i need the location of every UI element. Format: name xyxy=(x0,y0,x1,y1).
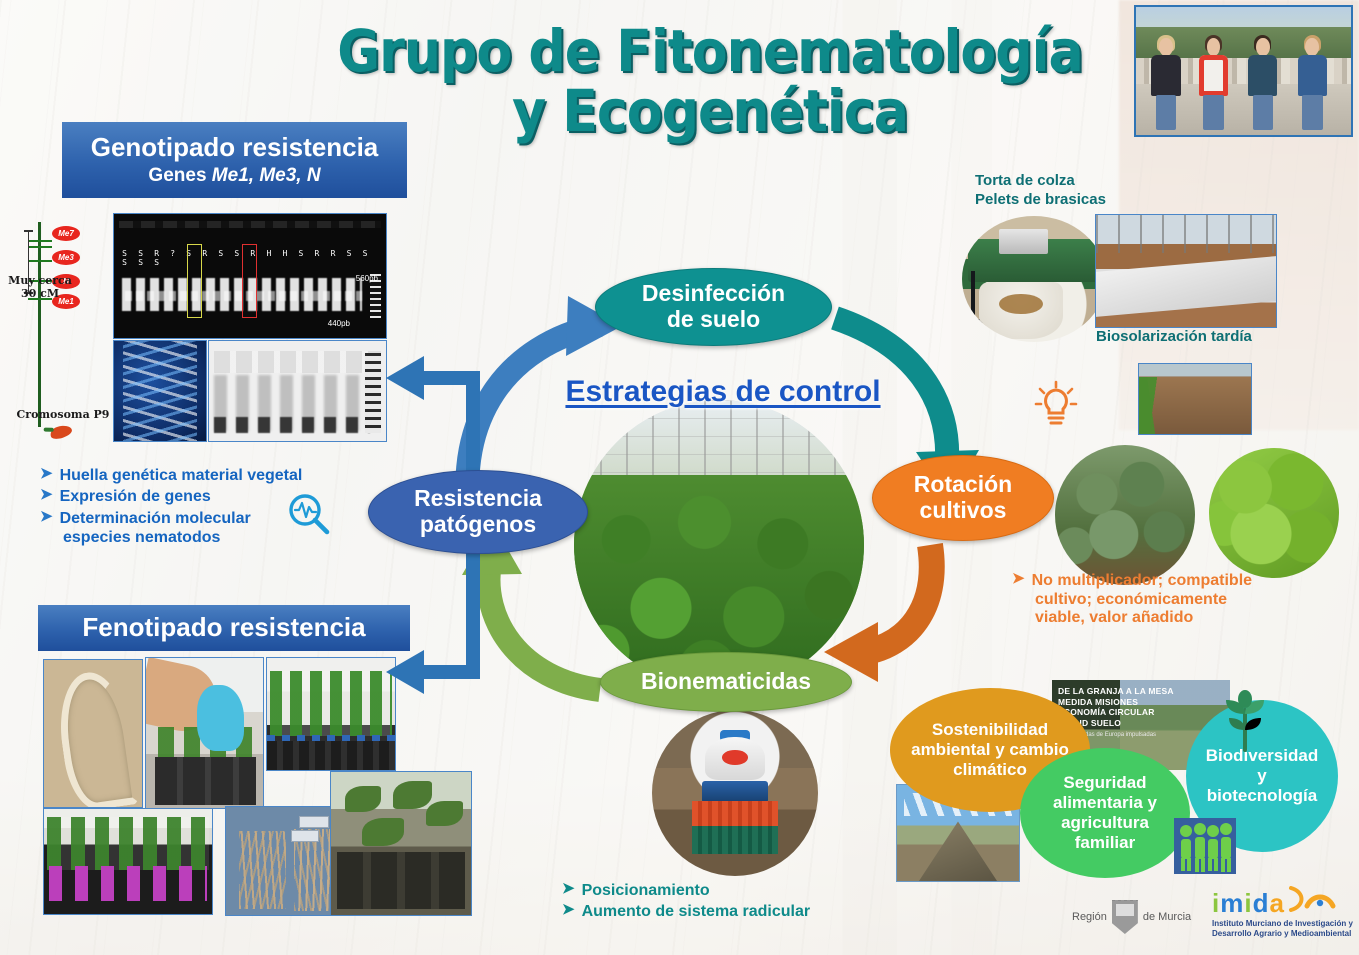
gel-electrophoresis-image: S S R ? S R S S R H H S R R S S S S S 56… xyxy=(113,213,387,339)
murcia-suffix: de Murcia xyxy=(1143,911,1191,923)
bullet-item: ➤ Determinación molecular xyxy=(40,508,385,529)
bullet-arrow-icon: ➤ xyxy=(40,508,53,526)
bullet-item: ➤ Huella genética material vegetal xyxy=(40,465,385,486)
bullet-item: ➤ Expresión de genes xyxy=(40,486,385,507)
genetic-distance-label: Muy cerca 30 cM xyxy=(0,274,80,300)
potted-plants-photo xyxy=(330,771,472,916)
bullet-continuation: cultivo; económicamente xyxy=(1012,591,1342,609)
title-line-2: y Ecogenética xyxy=(300,82,1120,142)
bullet-arrow-icon: ➤ xyxy=(40,465,53,483)
gene-marker-me7: Me7 xyxy=(52,226,80,241)
chromosome-map: Me7 Me3 N Me1 Muy cerca 30 cM Cromosoma … xyxy=(10,212,130,442)
imida-logo: imida Instituto Murciano de Investigació… xyxy=(1212,886,1357,948)
pale-gel-image xyxy=(208,340,387,442)
team-photo xyxy=(1134,5,1353,137)
imida-subtitle: Instituto Murciano de Investigación y De… xyxy=(1212,919,1357,939)
team-member xyxy=(1291,38,1334,130)
region-de-murcia-logo: Región de Murcia xyxy=(1072,893,1200,941)
crop-rows-photo xyxy=(1138,363,1252,435)
bullet-item: ➤ Posicionamiento xyxy=(562,880,962,901)
gel-highlight-red xyxy=(242,244,257,318)
disinfection-label: Torta de colza Pelets de brasicas xyxy=(975,172,1106,210)
cycle-node-crop-rotation[interactable]: Rotación cultivos xyxy=(872,455,1054,541)
cycle-node-soil-disinfection[interactable]: Desinfección de suelo xyxy=(595,268,832,346)
gene-marker-me3: Me3 xyxy=(52,250,80,265)
cycle-node-pathogen-resistance[interactable]: Resistencia patógenos xyxy=(368,470,588,554)
rotation-bullets: ➤ No multiplicador; compatible cultivo; … xyxy=(1012,570,1342,627)
genotyping-title: Genotipado resistencia xyxy=(91,133,379,163)
cycle-center-title: Estrategias de control xyxy=(538,375,908,409)
biosolarization-caption: Biosolarización tardía xyxy=(1096,328,1252,347)
team-member xyxy=(1241,38,1284,130)
genotyping-banner: Genotipado resistencia Genes Me1, Me3, N xyxy=(62,122,407,198)
bullet-continuation: especies nematodos xyxy=(40,529,385,547)
pepper-icon xyxy=(49,423,74,441)
gene-names: Me1, Me3, N xyxy=(212,165,321,186)
poster-canvas: Grupo de Fitonematología y Ecogenética G… xyxy=(0,0,1359,955)
magnifier-pulse-icon xyxy=(287,492,331,536)
genotyping-subtitle: Genes Me1, Me3, N xyxy=(148,165,320,187)
murcia-prefix: Región xyxy=(1072,911,1107,923)
bionematicide-bullets: ➤ Posicionamiento ➤ Aumento de sistema r… xyxy=(562,880,962,923)
rapeseed-cake-tank-photo xyxy=(962,216,1106,342)
phenotyping-title: Fenotipado resistencia xyxy=(82,613,365,643)
seedling-tray-photo xyxy=(266,657,396,771)
bullet-arrow-icon: ➤ xyxy=(562,880,575,898)
family-group-icon xyxy=(1174,818,1236,874)
inoculation-photo xyxy=(145,657,264,809)
phenotyping-banner: Fenotipado resistencia xyxy=(38,605,410,651)
bullet-arrow-icon: ➤ xyxy=(1012,570,1025,588)
gel-label-560pb: 560pb xyxy=(356,274,378,283)
plant-sprout-icon xyxy=(1216,690,1274,752)
bullet-arrow-icon: ➤ xyxy=(40,486,53,504)
gel-label-440pb: 440pb xyxy=(328,319,350,328)
purple-tagged-seedlings-photo xyxy=(43,808,213,915)
nematode-micrograph-photo xyxy=(43,659,143,808)
genotyping-bullets: ➤ Huella genética material vegetal ➤ Exp… xyxy=(40,465,385,547)
team-member xyxy=(1145,38,1188,130)
lightbulb-icon xyxy=(1034,380,1078,430)
bullet-continuation: viable, valor añadido xyxy=(1012,609,1342,627)
bullet-arrow-icon: ➤ xyxy=(562,901,575,919)
murcia-shield-icon xyxy=(1112,900,1138,934)
greenhouse-pepper-crop-photo xyxy=(574,400,864,690)
cycle-node-bionematicides[interactable]: Bionematicidas xyxy=(600,652,852,712)
gel-highlight-yellow xyxy=(187,244,202,318)
bullet-item: ➤ Aumento de sistema radicular xyxy=(562,901,962,922)
lettuce-photo xyxy=(1209,448,1339,578)
bullet-item: ➤ No multiplicador; compatible xyxy=(1012,570,1342,591)
food-security-circle: Seguridad alimentaria y agricultura fami… xyxy=(1020,748,1190,878)
biosolarization-photo xyxy=(1095,214,1277,328)
poster-title: Grupo de Fitonematología y Ecogenética xyxy=(300,22,1120,141)
brassica-field-photo xyxy=(1055,445,1195,585)
imida-wordmark: imida xyxy=(1212,886,1357,916)
chromosome-name: Cromosoma P9 xyxy=(8,408,118,421)
chromosome-bar xyxy=(38,222,41,427)
team-member xyxy=(1192,38,1235,130)
title-line-1: Grupo de Fitonematología xyxy=(337,17,1082,85)
sprayer-equipment-photo xyxy=(652,710,818,876)
